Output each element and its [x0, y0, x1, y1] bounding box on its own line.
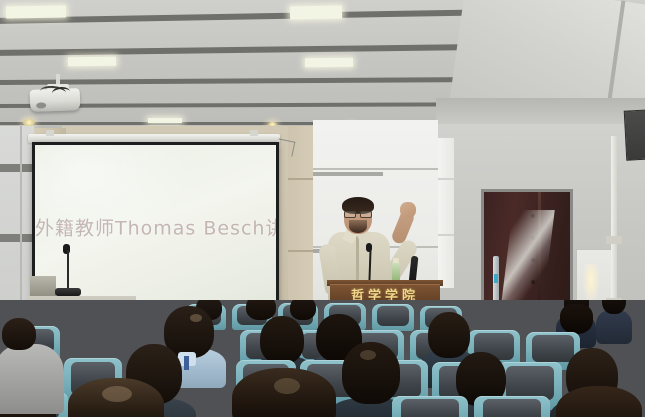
seat-cushion [377, 306, 409, 325]
glasses-icon [344, 211, 372, 216]
audience-hair-highlight [102, 386, 132, 402]
presenter-hand [400, 202, 416, 218]
auditorium-seat[interactable] [372, 304, 414, 331]
audience-hair [560, 304, 593, 334]
audience-hair-highlight [274, 378, 300, 394]
projection-screen-surface: 外籍教师Thomas Besch讲话 [35, 145, 276, 303]
lecture-hall-photo: 外籍教师Thomas Besch讲话 哲学学院 [0, 0, 645, 417]
panel-seam [20, 126, 22, 321]
audience-shoulders [0, 344, 64, 414]
bottle-cap [393, 258, 399, 263]
wall-trim [313, 172, 383, 176]
audience-seating [0, 300, 645, 417]
audience-member-left-aisle [0, 318, 56, 410]
seat-cushion [483, 399, 541, 417]
microphone-stem [67, 250, 69, 290]
seat-cushion [401, 399, 459, 417]
audience-head [2, 318, 36, 350]
audience-member-foreground [556, 386, 642, 417]
audience-head [260, 316, 304, 364]
panel-seam [436, 234, 454, 236]
audience-member-foreground [232, 368, 336, 417]
projector-cable [51, 86, 70, 99]
door-lock-indicator [494, 274, 498, 283]
wall-pole [611, 136, 617, 322]
left-wall-panels [0, 126, 34, 321]
audience-member-standing [596, 300, 632, 342]
right-wall-soffit [436, 98, 645, 124]
audience-shoulders [596, 310, 632, 344]
ceiling-light-panel-icon [290, 6, 342, 20]
presenter-beard [349, 220, 367, 233]
projection-screen: 外籍教师Thomas Besch讲话 [32, 142, 279, 306]
glasses-lens [360, 211, 372, 218]
ceiling-light-panel-icon [6, 5, 66, 18]
glasses-bridge [355, 213, 361, 214]
audience-member-foreground [68, 378, 164, 417]
pole-clamp [606, 236, 622, 244]
audience-hair-highlight [190, 314, 202, 322]
audience-hair-highlight [360, 350, 376, 360]
downlight-icon [23, 119, 35, 126]
auditorium-seat[interactable] [392, 396, 468, 417]
ceiling-light-panel-icon [68, 57, 116, 67]
wall-trim [313, 168, 438, 170]
audience-head [556, 386, 642, 417]
ceiling-light-panel-icon [148, 118, 182, 123]
microphone-base [55, 288, 81, 296]
auditorium-seat[interactable] [474, 396, 550, 417]
wall-speaker-icon [624, 109, 645, 160]
right-wall-white-strip [436, 138, 454, 288]
wall-band [0, 234, 34, 242]
wall-band [0, 164, 34, 172]
screen-bracket [250, 130, 258, 136]
ceiling-light-panel-icon [305, 58, 353, 68]
screen-bracket [46, 130, 54, 136]
av-equipment [30, 276, 56, 298]
panel-seam [436, 178, 454, 180]
projected-slide-title: 外籍教师Thomas Besch讲话 [35, 214, 276, 241]
water-bottle-icon [392, 262, 400, 282]
panel-glare [583, 264, 599, 304]
